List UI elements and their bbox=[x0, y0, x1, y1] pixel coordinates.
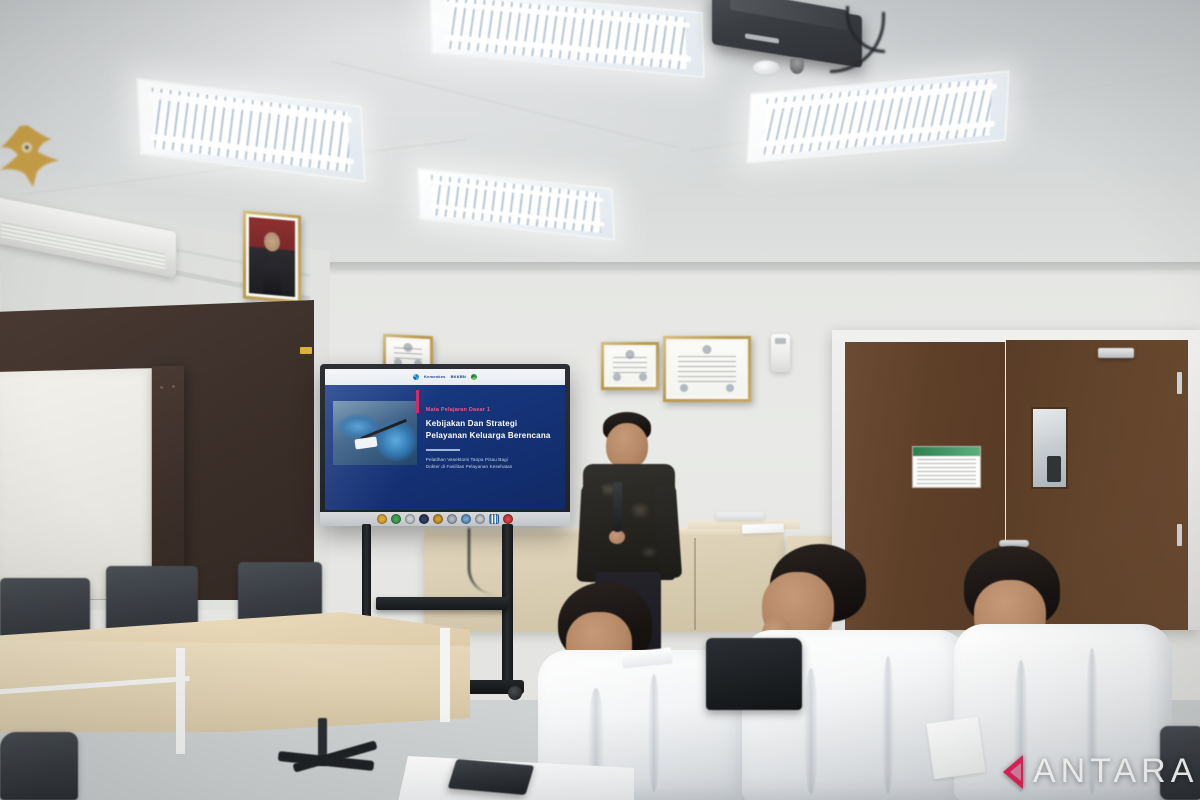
partner-logo-icon bbox=[419, 514, 429, 524]
certificate-mat bbox=[666, 339, 748, 399]
slide-eyebrow: Mata Pelajaran Dasar 1 bbox=[426, 407, 558, 413]
document-paper bbox=[926, 717, 985, 780]
sprinkler-head-icon bbox=[790, 58, 804, 74]
notice-header bbox=[913, 447, 980, 456]
partner-logo-icon bbox=[475, 514, 485, 524]
certificate-document bbox=[669, 342, 745, 396]
display-bottom-bar bbox=[320, 512, 570, 526]
door-vision-panel bbox=[1031, 407, 1068, 489]
interactive-display[interactable]: Kemenkes BKKBN Mata Pelajaran Dasar 1 Ke… bbox=[320, 364, 570, 526]
desk-leg-trim bbox=[176, 648, 185, 754]
presenter-head bbox=[606, 423, 648, 469]
certificate-seal-icon bbox=[680, 384, 688, 392]
photo-scene: Kemenkes BKKBN Mata Pelajaran Dasar 1 Ke… bbox=[0, 0, 1200, 800]
garuda-pancasila-emblem bbox=[0, 113, 65, 197]
shirt-fold bbox=[804, 668, 818, 794]
surgical-gauze bbox=[355, 437, 378, 450]
framed-certificate bbox=[663, 336, 751, 402]
slide-subtitle-line2: Dokter di Fasilitas Pelayanan Kesehatan bbox=[426, 463, 558, 470]
paper-stack bbox=[742, 523, 784, 533]
partner-logo-icon bbox=[377, 514, 387, 524]
shirt-fold bbox=[1014, 660, 1028, 792]
slide-divider bbox=[426, 449, 460, 451]
wall-mounted-dispenser bbox=[771, 334, 790, 372]
slide-title-line1: Kebijakan Dan Strategi bbox=[426, 418, 558, 430]
certificate-document bbox=[607, 348, 653, 384]
slide-photo bbox=[333, 401, 417, 464]
partner-logo-icon bbox=[447, 514, 457, 524]
framed-certificate bbox=[601, 342, 659, 390]
certificate-seal-icon bbox=[639, 373, 647, 381]
yellow-label-tag bbox=[300, 347, 312, 354]
dispenser-window bbox=[775, 338, 786, 344]
framed-portrait bbox=[243, 210, 301, 303]
slide-header: Kemenkes BKKBN bbox=[325, 369, 565, 385]
certificate-mat bbox=[604, 345, 656, 387]
handheld-microphone bbox=[613, 482, 622, 532]
certificate-crest-icon bbox=[703, 345, 712, 354]
shirt-fold bbox=[882, 656, 894, 794]
office-chair[interactable] bbox=[0, 732, 78, 800]
presenter-hand bbox=[609, 530, 625, 544]
slide-header-logo-right: BKKBN bbox=[451, 374, 466, 379]
partner-logo-icon bbox=[391, 514, 401, 524]
smoke-detector-icon bbox=[752, 60, 780, 76]
portrait-mat bbox=[246, 214, 298, 301]
slide-text-block: Mata Pelajaran Dasar 1 Kebijakan Dan Str… bbox=[426, 407, 558, 470]
notice-text-lines bbox=[917, 459, 976, 484]
panel-screw bbox=[160, 386, 163, 389]
certificate-seal-icon bbox=[613, 373, 621, 381]
bkkbn-logo-icon bbox=[471, 374, 477, 380]
laptop-bag bbox=[706, 638, 802, 710]
office-chair[interactable] bbox=[1160, 726, 1200, 800]
partner-logo-icon bbox=[405, 514, 415, 524]
certificate-text-lines bbox=[678, 356, 736, 383]
door-hinge bbox=[1177, 372, 1182, 394]
kemenkes-logo-icon bbox=[413, 374, 419, 380]
slide-title-line2: Pelayanan Keluarga Berencana bbox=[426, 430, 558, 442]
partner-logo-icon bbox=[461, 514, 471, 524]
portrait-photo bbox=[249, 217, 295, 297]
surgical-instrument bbox=[360, 419, 406, 440]
door-closer bbox=[1098, 348, 1134, 358]
slide-header-logo-left: Kemenkes bbox=[424, 374, 446, 379]
display-partner-logo-strip bbox=[320, 512, 570, 526]
attendee-white-shirt bbox=[954, 624, 1172, 800]
slide-subtitle-line1: Pelatihan Vasektomi Tanpa Pisau Bagi bbox=[426, 456, 558, 463]
display-screen[interactable]: Kemenkes BKKBN Mata Pelajaran Dasar 1 Ke… bbox=[325, 369, 565, 510]
partner-logo-icon bbox=[489, 514, 499, 524]
desk-leg-trim bbox=[440, 628, 450, 722]
slide-accent-bar bbox=[416, 390, 419, 413]
certificate-seal-icon bbox=[726, 384, 734, 392]
door-notice[interactable] bbox=[912, 446, 981, 488]
shirt-fold bbox=[1086, 648, 1098, 794]
panel-screw bbox=[172, 385, 175, 388]
partner-logo-icon bbox=[433, 514, 443, 524]
door-window-reflection bbox=[1047, 456, 1062, 483]
cart-shelf bbox=[376, 597, 508, 610]
cart-caster bbox=[508, 686, 522, 700]
paper-stack bbox=[716, 512, 764, 520]
shirt-fold bbox=[648, 674, 660, 792]
partner-logo-icon bbox=[503, 514, 513, 524]
attendee-right bbox=[930, 532, 1180, 800]
